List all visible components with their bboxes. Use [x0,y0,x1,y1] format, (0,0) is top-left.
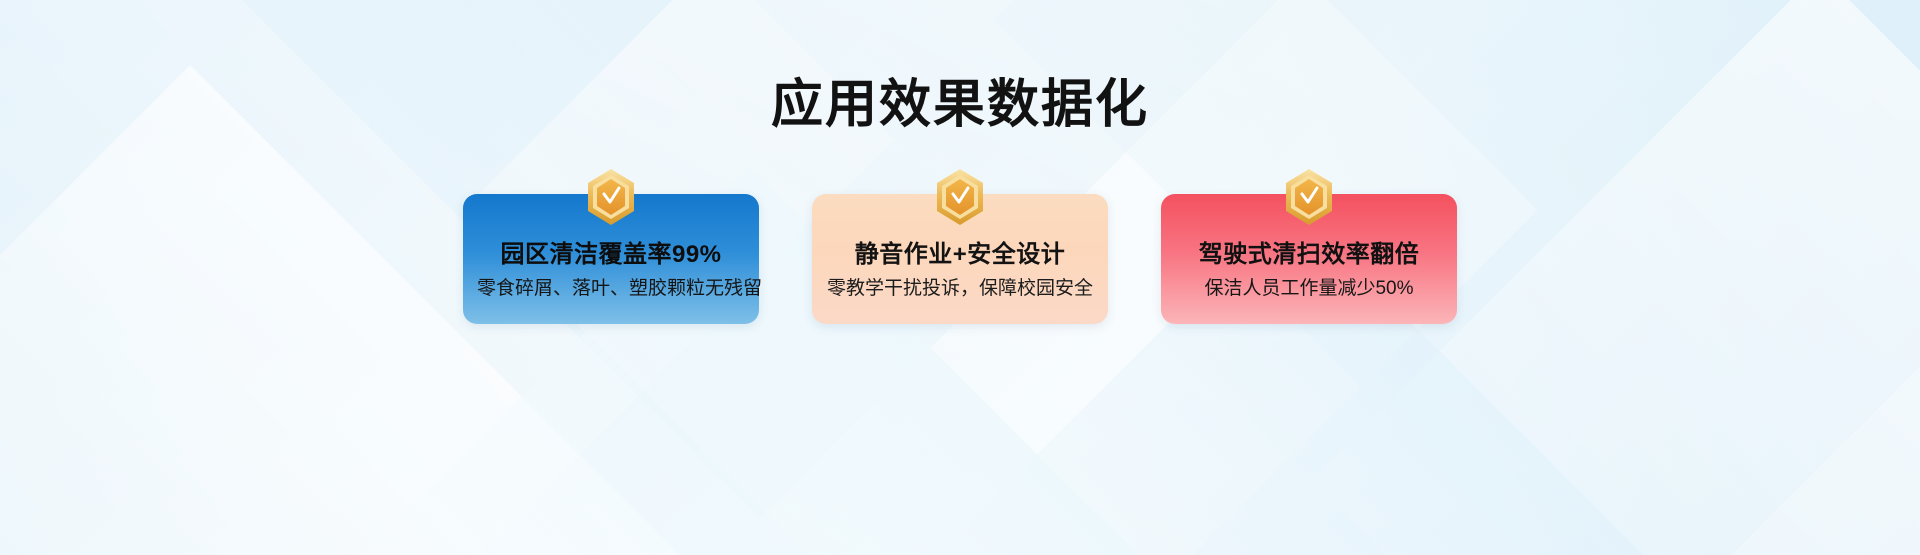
hexagon-check-badge-icon [935,168,985,226]
stat-card-coverage[interactable]: 园区清洁覆盖率99% 零食碎屑、落叶、塑胶颗粒无残留 [463,194,759,324]
hexagon-check-badge-icon [1284,168,1334,226]
stat-card-subtitle: 零食碎屑、落叶、塑胶颗粒无残留 [477,277,745,302]
page-title: 应用效果数据化 [0,74,1920,136]
stat-card-title: 静音作业+安全设计 [826,240,1094,270]
slide-canvas: 应用效果数据化 [0,0,1920,555]
stat-card-list: 园区清洁覆盖率99% 零食碎屑、落叶、塑胶颗粒无残留 [0,194,1920,324]
stat-card-title: 园区清洁覆盖率99% [477,240,745,270]
stat-card-efficiency[interactable]: 驾驶式清扫效率翻倍 保洁人员工作量减少50% [1161,194,1457,324]
stat-card-subtitle: 零教学干扰投诉，保障校园安全 [826,277,1094,302]
stat-card-title: 驾驶式清扫效率翻倍 [1175,240,1443,270]
stat-card-subtitle: 保洁人员工作量减少50% [1175,277,1443,302]
hexagon-check-badge-icon [586,168,636,226]
stat-card-quiet-safety[interactable]: 静音作业+安全设计 零教学干扰投诉，保障校园安全 [812,194,1108,324]
